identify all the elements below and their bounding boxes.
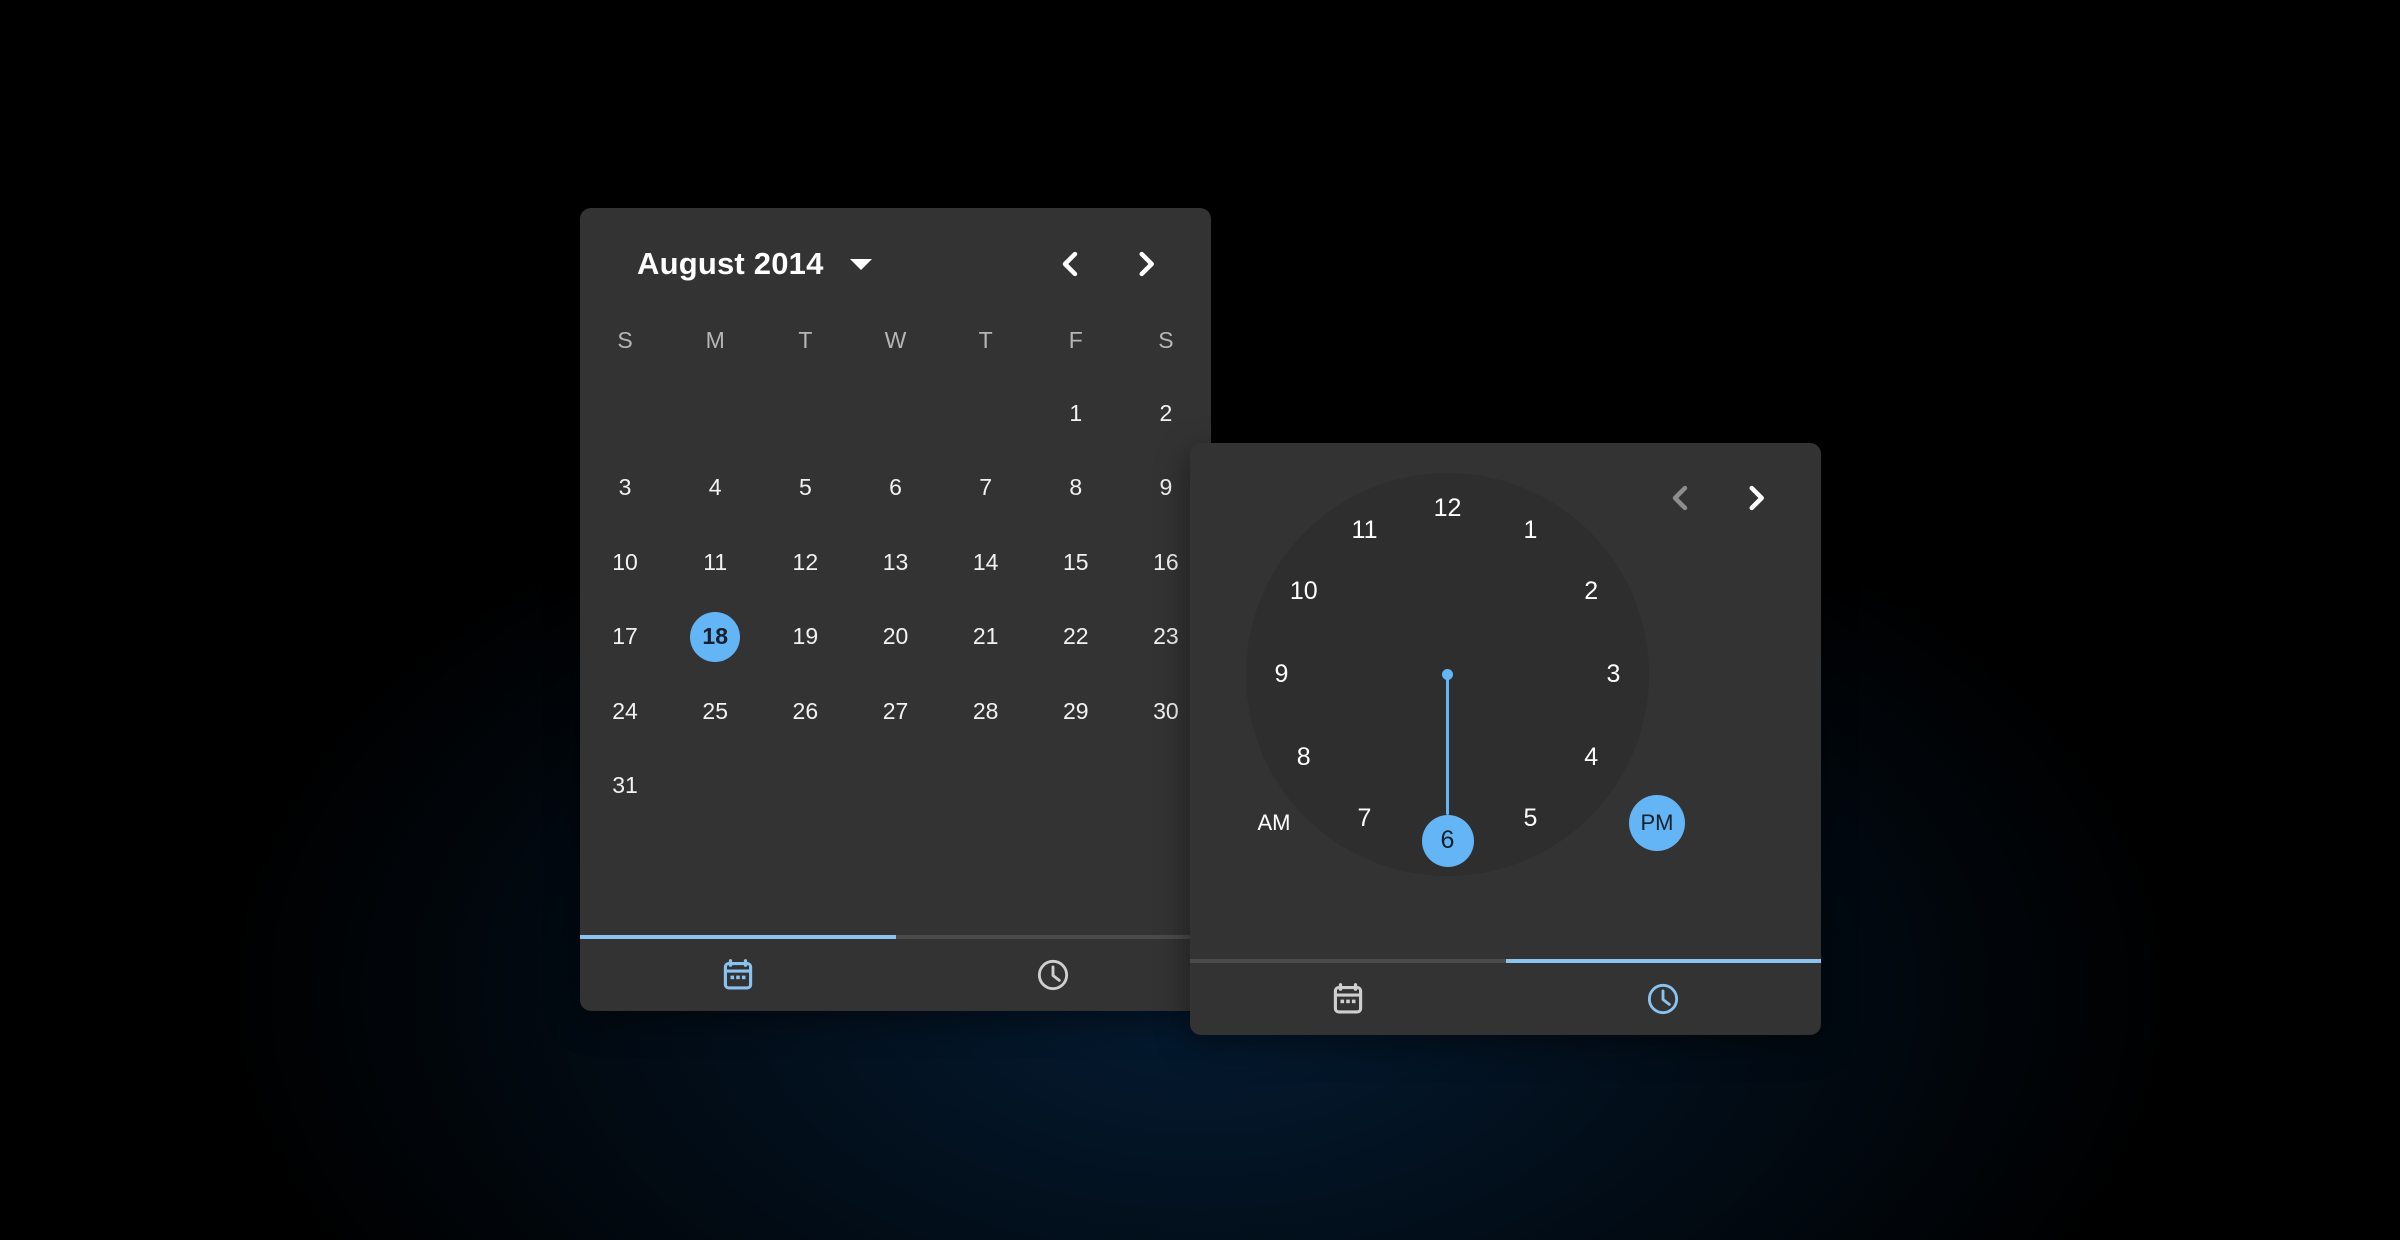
day-cell[interactable]: 7 [941,451,1031,526]
day-cell[interactable]: 13 [850,525,940,600]
time-tab[interactable] [1506,963,1822,1035]
day-label: 6 [870,463,920,513]
clock-hand-center [1442,669,1453,680]
hour-cell[interactable]: 3 [1588,649,1640,701]
day-cell[interactable]: 25 [670,674,760,749]
weekday-label: S [580,320,670,360]
day-cell[interactable]: 17 [580,600,670,675]
day-cell[interactable]: 8 [1031,451,1121,526]
day-cell[interactable]: 19 [760,600,850,675]
day-grid: 1234567891011121314151617181920212223242… [580,376,1211,823]
time-picker-panel: 121234567891011 AM PM [1190,443,1821,1035]
day-cell[interactable]: 31 [580,749,670,824]
day-cell-empty [941,376,1031,451]
day-label: 15 [1051,537,1101,587]
day-cell[interactable]: 29 [1031,674,1121,749]
day-cell-empty [760,376,850,451]
hour-cell[interactable]: 10 [1278,566,1330,618]
day-label: 13 [870,537,920,587]
date-picker-tabbar [580,935,1211,1011]
day-cell[interactable]: 5 [760,451,850,526]
weekday-label: T [760,320,850,360]
time-tab[interactable] [896,939,1212,1011]
day-label: 14 [961,537,1011,587]
day-label: 16 [1141,537,1191,587]
day-cell-selected[interactable]: 18 [670,600,760,675]
day-cell[interactable]: 10 [580,525,670,600]
calendar-icon [1330,981,1366,1017]
month-nav [1053,247,1163,281]
day-label: 29 [1051,686,1101,736]
hour-cell[interactable]: 1 [1505,505,1557,557]
day-label: 24 [600,686,650,736]
weekday-label: W [850,320,940,360]
calendar-icon [720,957,756,993]
hour-cell[interactable]: 5 [1505,792,1557,844]
time-nav [1663,481,1773,515]
day-label: 30 [1141,686,1191,736]
day-label: 27 [870,686,920,736]
day-label: 4 [690,463,740,513]
day-label: 17 [600,612,650,662]
day-cell[interactable]: 27 [850,674,940,749]
clock-icon [1035,957,1071,993]
hour-cell[interactable]: 11 [1339,505,1391,557]
day-cell[interactable]: 4 [670,451,760,526]
am-button[interactable]: AM [1246,795,1302,851]
weekday-label: S [1121,320,1211,360]
date-picker-panel: August 2014 SMTWTFS 12345678910111213141… [580,208,1211,1011]
tab-list [1190,963,1821,1035]
day-cell[interactable]: 12 [760,525,850,600]
day-label: 8 [1051,463,1101,513]
month-year-title[interactable]: August 2014 [637,246,824,282]
day-label: 1 [1051,388,1101,438]
day-label: 2 [1141,388,1191,438]
day-cell[interactable]: 24 [580,674,670,749]
date-tab[interactable] [1190,963,1506,1035]
hour-cell[interactable]: 8 [1278,732,1330,784]
day-label: 11 [690,537,740,587]
chevron-left-icon[interactable] [1053,247,1087,281]
day-label: 19 [780,612,830,662]
hour-cell[interactable]: 4 [1565,732,1617,784]
hour-cell-selected[interactable]: 6 [1422,815,1474,867]
day-cell-empty [670,376,760,451]
day-label: 25 [690,686,740,736]
hour-cell[interactable]: 12 [1422,483,1474,535]
chevron-left-icon[interactable] [1663,481,1697,515]
day-cell[interactable]: 2 [1121,376,1211,451]
day-cell[interactable]: 3 [580,451,670,526]
day-label: 23 [1141,612,1191,662]
day-label: 28 [961,686,1011,736]
day-cell[interactable]: 20 [850,600,940,675]
weekday-label: M [670,320,760,360]
day-label: 20 [870,612,920,662]
pm-button[interactable]: PM [1629,795,1685,851]
day-cell-empty [580,376,670,451]
date-picker-header: August 2014 [580,208,1211,320]
chevron-right-icon[interactable] [1739,481,1773,515]
hour-cell[interactable]: 7 [1339,792,1391,844]
clock-hand [1446,675,1449,815]
day-label: 21 [961,612,1011,662]
chevron-down-icon[interactable] [850,259,872,270]
day-cell[interactable]: 14 [941,525,1031,600]
time-picker-tabbar [1190,959,1821,1035]
day-cell[interactable]: 6 [850,451,940,526]
day-cell[interactable]: 21 [941,600,1031,675]
chevron-right-icon[interactable] [1129,247,1163,281]
day-label: 3 [600,463,650,513]
day-cell[interactable]: 22 [1031,600,1121,675]
day-cell[interactable]: 1 [1031,376,1121,451]
day-cell[interactable]: 15 [1031,525,1121,600]
day-label: 31 [600,761,650,811]
clock-icon [1645,981,1681,1017]
day-label: 5 [780,463,830,513]
day-cell[interactable]: 11 [670,525,760,600]
day-cell[interactable]: 28 [941,674,1031,749]
hour-cell[interactable]: 9 [1256,649,1308,701]
weekday-header-row: SMTWTFS [580,320,1211,360]
day-label: 22 [1051,612,1101,662]
day-label: 10 [600,537,650,587]
clock-dial[interactable]: 121234567891011 [1246,473,1649,876]
day-label: 12 [780,537,830,587]
weekday-label: T [941,320,1031,360]
date-tab[interactable] [580,939,896,1011]
app-background: August 2014 SMTWTFS 12345678910111213141… [0,0,2400,1240]
day-label: 9 [1141,463,1191,513]
day-label: 7 [961,463,1011,513]
day-cell[interactable]: 26 [760,674,850,749]
day-label: 18 [690,612,740,662]
weekday-label: F [1031,320,1121,360]
day-label: 26 [780,686,830,736]
hour-cell[interactable]: 2 [1565,566,1617,618]
day-cell-empty [850,376,940,451]
tab-list [580,939,1211,1011]
